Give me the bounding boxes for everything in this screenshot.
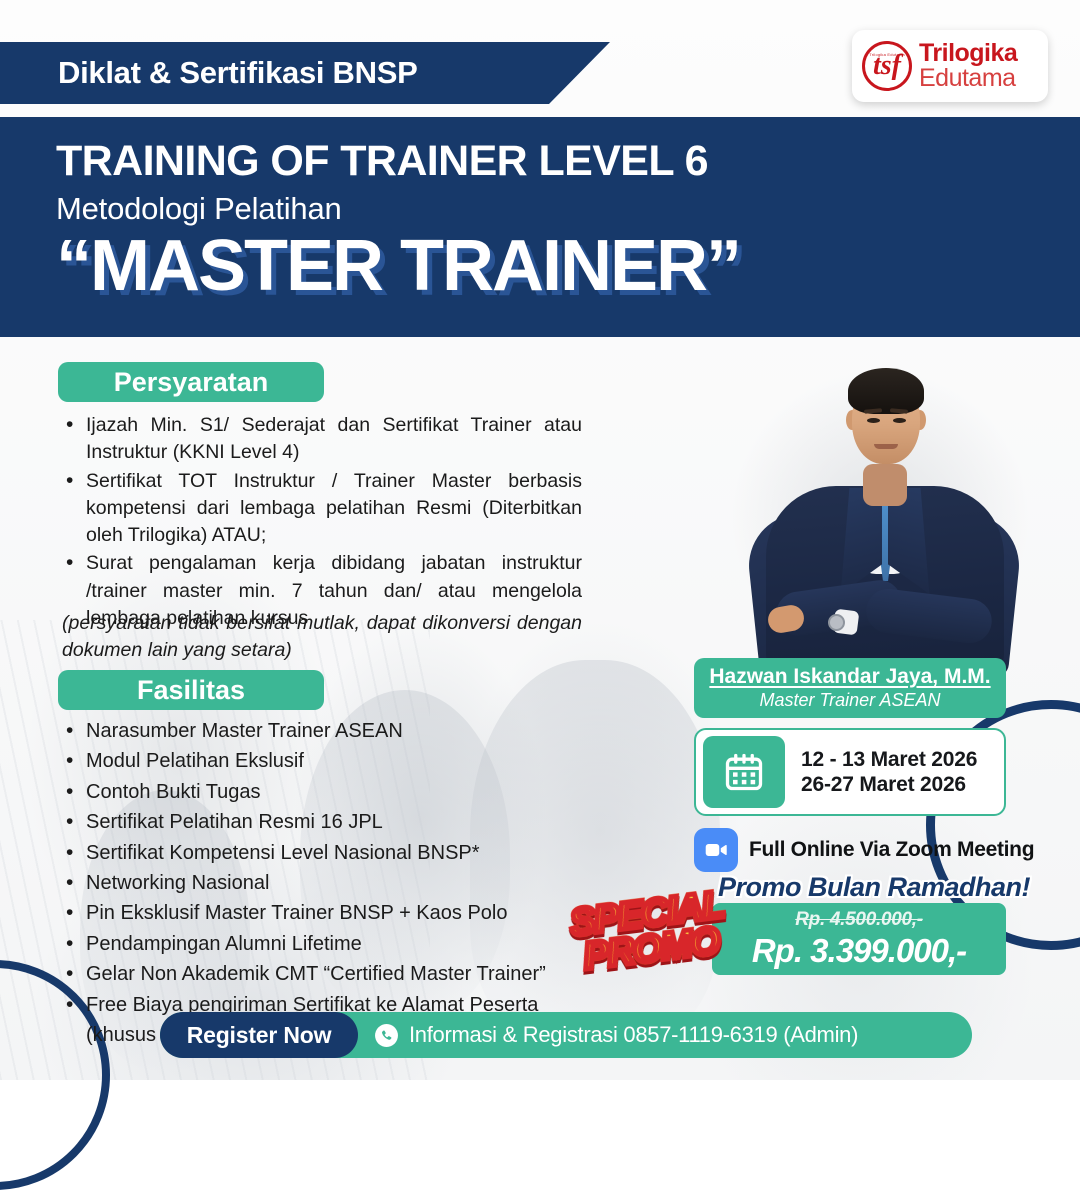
schedule-date-2: 26-27 Maret 2026 [801, 773, 977, 797]
list-item: Sertifikat TOT Instruktur / Trainer Mast… [62, 468, 582, 550]
requirements-note: (persyaratan tidak bersifat mutlak, dapa… [62, 610, 582, 665]
section-badge-fasilitas: Fasilitas [58, 670, 324, 710]
delivery-mode-label: Full Online Via Zoom Meeting [749, 838, 1034, 862]
portrait-eye-right [893, 418, 906, 423]
portrait-eye-left [867, 418, 880, 423]
promo-headline: Promo Bulan Ramadhan! [718, 872, 1030, 903]
title-line-2: Metodologi Pelatihan [56, 191, 1080, 227]
list-item: Gelar Non Akademik CMT “Certified Master… [62, 959, 602, 989]
list-item: Modul Pelatihan Ekslusif [62, 746, 602, 776]
section-badge-persyaratan: Persyaratan [58, 362, 324, 402]
price-original: Rp. 4.500.000,- [795, 909, 923, 931]
portrait-mouth [874, 444, 898, 449]
phone-icon [374, 1023, 399, 1048]
list-item: Ijazah Min. S1/ Sederajat dan Sertifikat… [62, 412, 582, 467]
contact-info[interactable]: Informasi & Registrasi 0857-1119-6319 (A… [358, 1022, 858, 1048]
logo-line-2: Edutama [919, 66, 1017, 92]
price-promo: Rp. 3.399.000,- [752, 932, 966, 970]
portrait-hair [848, 368, 924, 414]
brand-logo: Trilogika Edutama tsf Trilogika Edutama [852, 30, 1048, 102]
list-item: Contoh Bukti Tugas [62, 777, 602, 807]
logo-monogram-icon: Trilogika Edutama tsf [862, 41, 912, 91]
portrait-wristwatch [828, 614, 845, 631]
title-line-3: “MASTER TRAINER” [56, 229, 1080, 304]
header-banner: Diklat & Sertifikasi BNSP [0, 42, 610, 104]
list-item: Sertifikat Pelatihan Resmi 16 JPL [62, 807, 602, 837]
requirements-list: Ijazah Min. S1/ Sederajat dan Sertifikat… [62, 412, 582, 633]
delivery-mode-row: Full Online Via Zoom Meeting [694, 828, 1034, 872]
trainer-name-card: Hazwan Iskandar Jaya, M.M. Master Traine… [694, 658, 1006, 718]
logo-line-1: Trilogika [919, 41, 1017, 67]
contact-info-label: Informasi & Registrasi 0857-1119-6319 (A… [409, 1022, 858, 1048]
facilities-list: Narasumber Master Trainer ASEAN Modul Pe… [62, 716, 602, 1050]
logo-micro-text: Trilogika Edutama [869, 52, 905, 57]
schedule-dates: 12 - 13 Maret 2026 26-27 Maret 2026 [785, 748, 977, 797]
schedule-date-1: 12 - 13 Maret 2026 [801, 748, 977, 772]
calendar-icon [703, 736, 785, 808]
trainer-role: Master Trainer ASEAN [759, 690, 940, 711]
cta-bar: Register Now Informasi & Registrasi 0857… [160, 1012, 972, 1058]
trainer-portrait [760, 338, 1010, 668]
price-card: Rp. 4.500.000,- Rp. 3.399.000,- [712, 903, 1006, 975]
header-banner-label: Diklat & Sertifikasi BNSP [0, 55, 417, 91]
list-item: Narasumber Master Trainer ASEAN [62, 716, 602, 746]
list-item: Sertifikat Kompetensi Level Nasional BNS… [62, 838, 602, 868]
title-block: TRAINING OF TRAINER LEVEL 6 Metodologi P… [0, 117, 1080, 337]
logo-wordmark: Trilogika Edutama [919, 41, 1017, 92]
title-line-1: TRAINING OF TRAINER LEVEL 6 [56, 139, 1080, 184]
register-now-button[interactable]: Register Now [160, 1012, 358, 1058]
list-item: Pin Eksklusif Master Trainer BNSP + Kaos… [62, 898, 602, 928]
trainer-name: Hazwan Iskandar Jaya, M.M. [709, 665, 990, 689]
portrait-neck [863, 464, 907, 506]
schedule-card: 12 - 13 Maret 2026 26-27 Maret 2026 [694, 728, 1006, 816]
list-item: Networking Nasional [62, 868, 602, 898]
list-item: Pendampingan Alumni Lifetime [62, 929, 602, 959]
zoom-meeting-icon [694, 828, 738, 872]
